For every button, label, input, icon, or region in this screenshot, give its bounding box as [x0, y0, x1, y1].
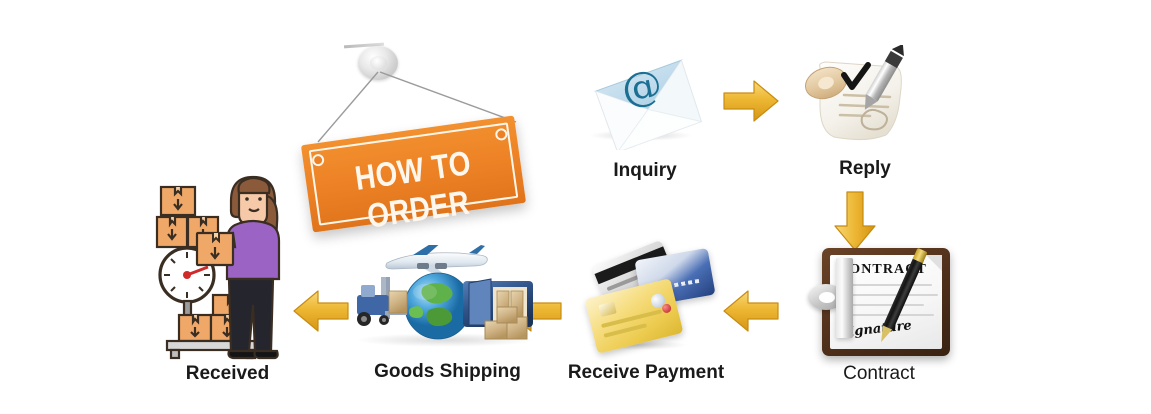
step-label-received: Received: [155, 363, 300, 385]
step-icon-receive-payment: [586, 248, 706, 348]
arrow-left-icon: [722, 288, 780, 334]
arrow-left-icon: [292, 288, 350, 334]
step-icon-received: .ol{stroke:#3a2d22;stroke-width:2.2;} .b…: [155, 175, 300, 360]
step-icon-inquiry: @: [585, 52, 705, 150]
step-label-contract: Contract: [806, 363, 952, 385]
envelope-at-icon: @: [585, 52, 705, 150]
woman-boxes-scale-icon: .ol{stroke:#3a2d22;stroke-width:2.2;} .b…: [155, 175, 300, 360]
step-label-goods-shipping: Goods Shipping: [345, 361, 550, 383]
scroll-check-pen-icon: [800, 45, 920, 150]
step-label-receive-payment: Receive Payment: [566, 362, 726, 384]
step-label-inquiry: Inquiry: [585, 160, 705, 182]
clipboard-clip-icon: [836, 258, 853, 338]
step-icon-contract: CONTRACT Signature: [806, 248, 952, 358]
arrow-down-icon: [833, 190, 877, 252]
globe-plane-truck-icon: [345, 245, 550, 355]
step-icon-goods-shipping: [345, 245, 550, 355]
how-to-order-flow-diagram: HOW TO ORDER @ Inquiry: [0, 0, 1151, 414]
step-icon-reply: [800, 45, 920, 150]
step-label-reply: Reply: [805, 158, 925, 180]
how-to-order-sign: HOW TO ORDER: [300, 38, 550, 238]
arrow-right-icon: [722, 78, 780, 124]
